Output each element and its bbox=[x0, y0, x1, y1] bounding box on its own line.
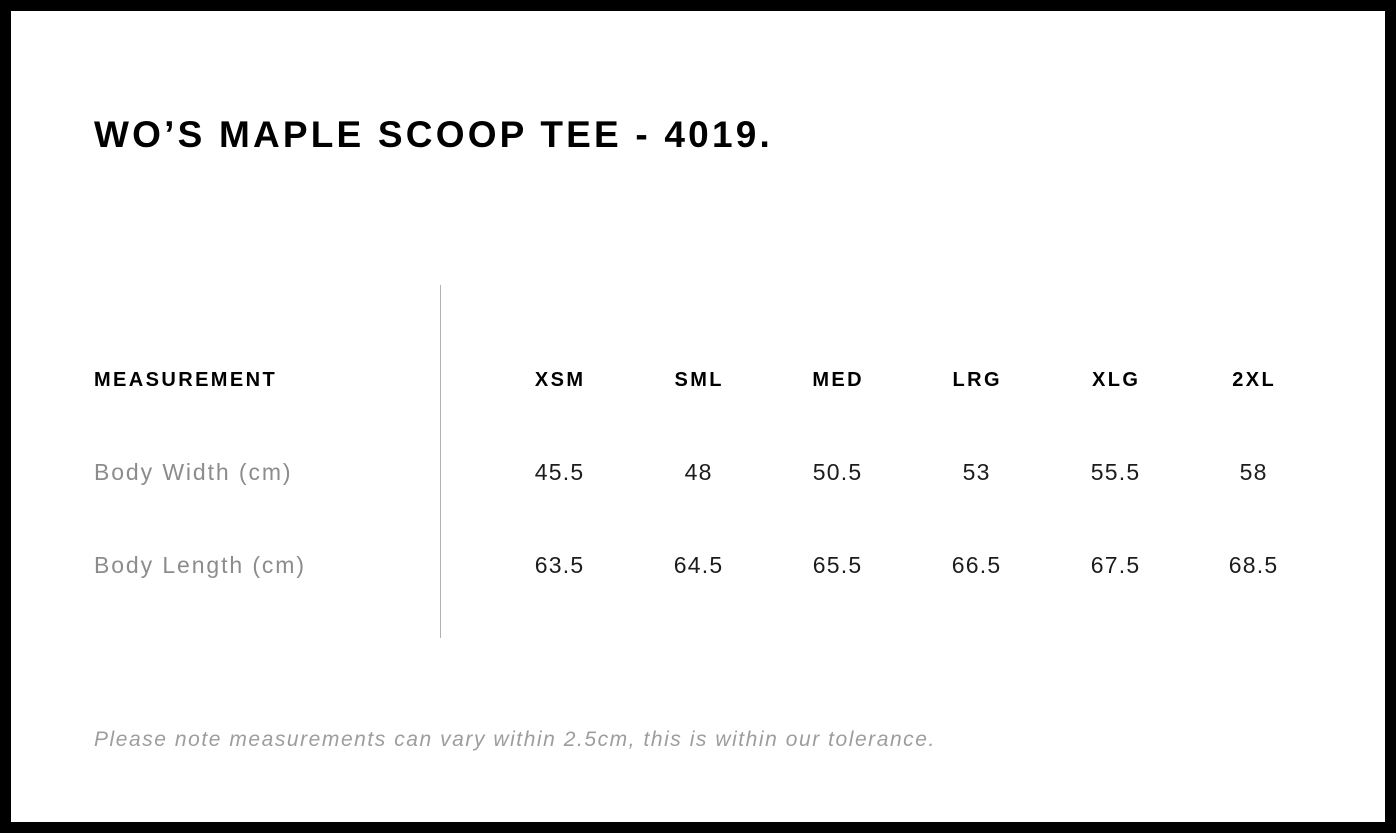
row-label-body-width: Body Width (cm) bbox=[94, 452, 292, 492]
tolerance-note: Please note measurements can vary within… bbox=[94, 727, 936, 752]
table-row: Body Length (cm) 63.5 64.5 65.5 66.5 67.… bbox=[11, 545, 1385, 585]
row-label-body-length: Body Length (cm) bbox=[94, 545, 306, 585]
column-header-2xl: 2XL bbox=[1168, 360, 1338, 400]
sheet-body: WO’S MAPLE SCOOP TEE - 4019. MEASUREMENT… bbox=[11, 11, 1385, 822]
table-header-row: MEASUREMENT XSM SML MED LRG XLG 2XL bbox=[11, 360, 1385, 400]
cell-body-width-2xl: 58 bbox=[1168, 452, 1338, 492]
column-header-measurement: MEASUREMENT bbox=[94, 360, 277, 400]
table-row: Body Width (cm) 45.5 48 50.5 53 55.5 58 bbox=[11, 452, 1385, 492]
size-chart-table: MEASUREMENT XSM SML MED LRG XLG 2XL Body… bbox=[11, 11, 1385, 822]
cell-body-length-2xl: 68.5 bbox=[1168, 545, 1338, 585]
size-chart-page: WO’S MAPLE SCOOP TEE - 4019. MEASUREMENT… bbox=[0, 0, 1396, 833]
